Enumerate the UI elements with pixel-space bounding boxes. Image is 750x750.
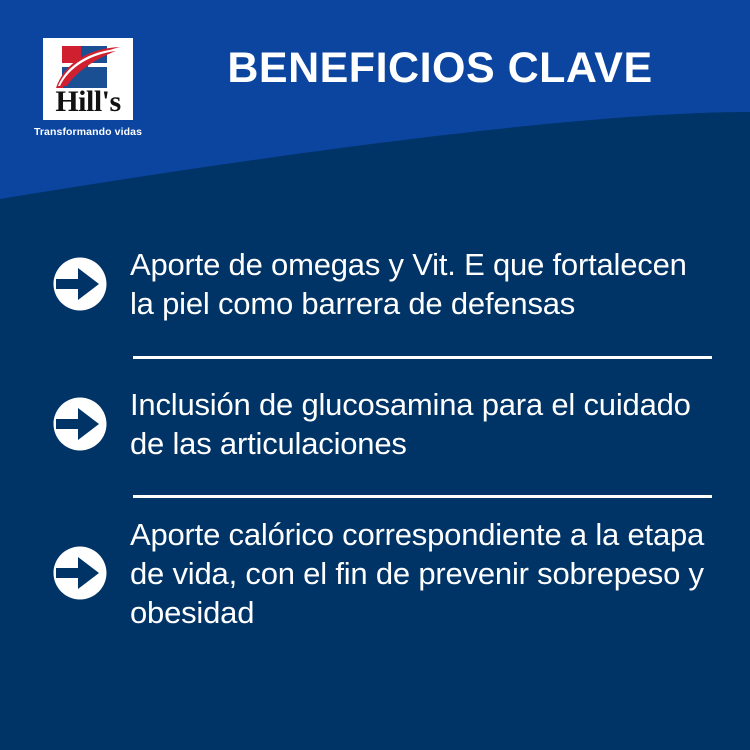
arrow-right-circle-icon <box>52 256 108 312</box>
benefit-text-2: Inclusión de glucosamina para el cuidado… <box>130 385 710 463</box>
benefit-text-3: Aporte calórico correspondiente a la eta… <box>130 515 710 632</box>
logo-wordmark: Hill's <box>43 86 133 118</box>
arrow-right-circle-icon <box>52 396 108 452</box>
benefit-text-1: Aporte de omegas y Vit. E que fortalecen… <box>130 245 710 323</box>
logo-white-box: Hill's <box>43 38 133 120</box>
hills-h-monogram-icon <box>54 44 122 90</box>
brand-logo: Hill's Transformando vidas <box>33 38 143 138</box>
logo-tagline: Transformando vidas <box>33 126 143 138</box>
benefit-item-3: Aporte calórico correspondiente a la eta… <box>0 498 750 648</box>
benefit-item-2: Inclusión de glucosamina para el cuidado… <box>0 359 750 489</box>
page-title: BENEFICIOS CLAVE <box>160 44 720 92</box>
arrow-right-circle-icon <box>52 545 108 601</box>
benefit-item-1: Aporte de omegas y Vit. E que fortalecen… <box>0 218 750 350</box>
benefits-list: Aporte de omegas y Vit. E que fortalecen… <box>0 218 750 648</box>
key-benefits-card: Hill's Transformando vidas BENEFICIOS CL… <box>0 0 750 750</box>
